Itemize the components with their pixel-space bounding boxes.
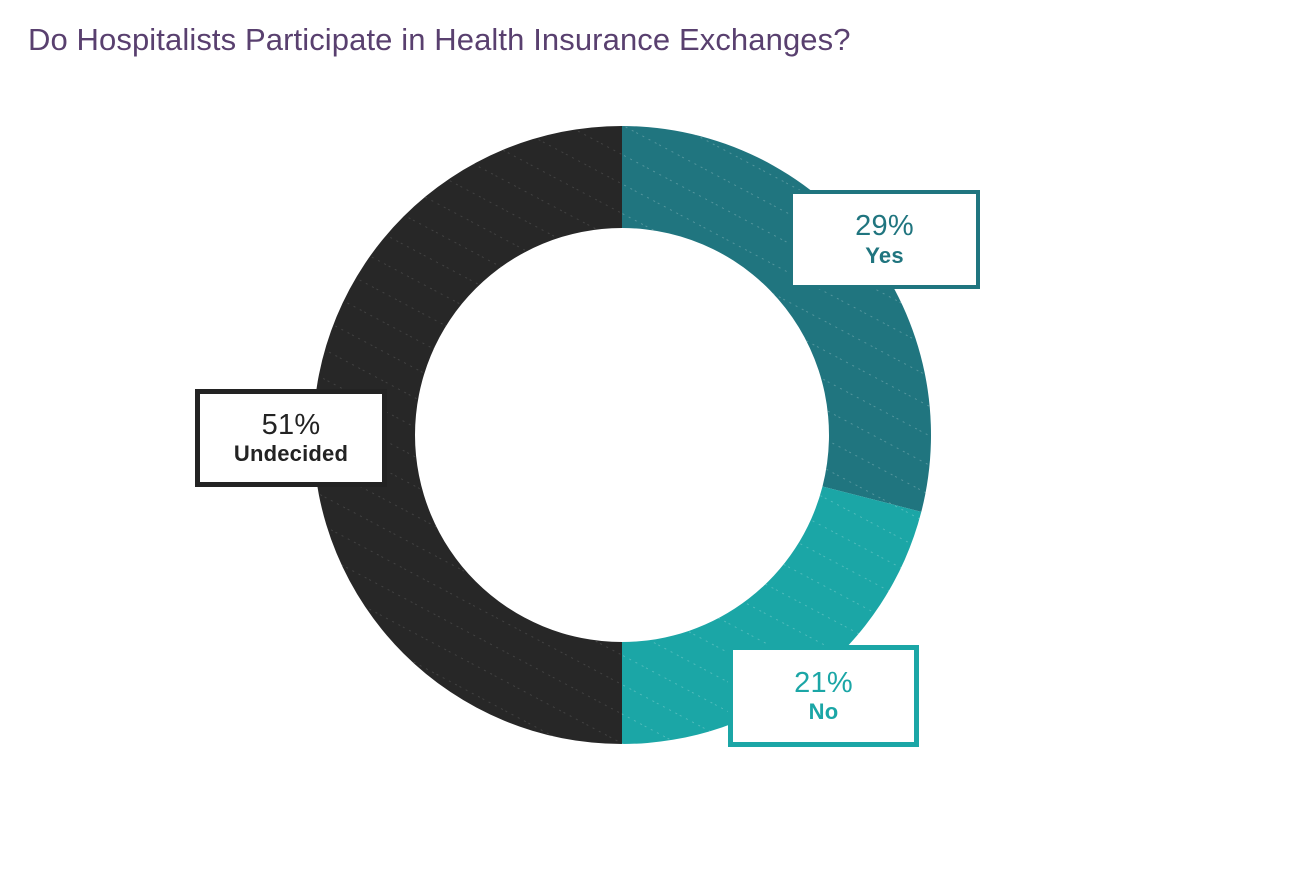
callout-yes-percent: 29% <box>855 210 914 242</box>
callout-undecided[interactable]: 51% Undecided <box>195 389 387 487</box>
donut-slice-yes[interactable] <box>622 126 931 512</box>
callout-undecided-percent: 51% <box>262 409 321 441</box>
callout-yes[interactable]: 29% Yes <box>789 190 980 289</box>
chart-page: Do Hospitalists Participate in Health In… <box>0 0 1290 878</box>
callout-no-percent: 21% <box>794 667 853 699</box>
donut-chart-svg <box>0 0 1290 878</box>
callout-undecided-label: Undecided <box>234 442 348 467</box>
donut-chart <box>0 0 1290 878</box>
callout-no[interactable]: 21% No <box>728 645 919 747</box>
donut-slice-yes-hatch <box>622 126 931 512</box>
callout-no-label: No <box>809 700 839 725</box>
callout-yes-label: Yes <box>865 244 904 269</box>
